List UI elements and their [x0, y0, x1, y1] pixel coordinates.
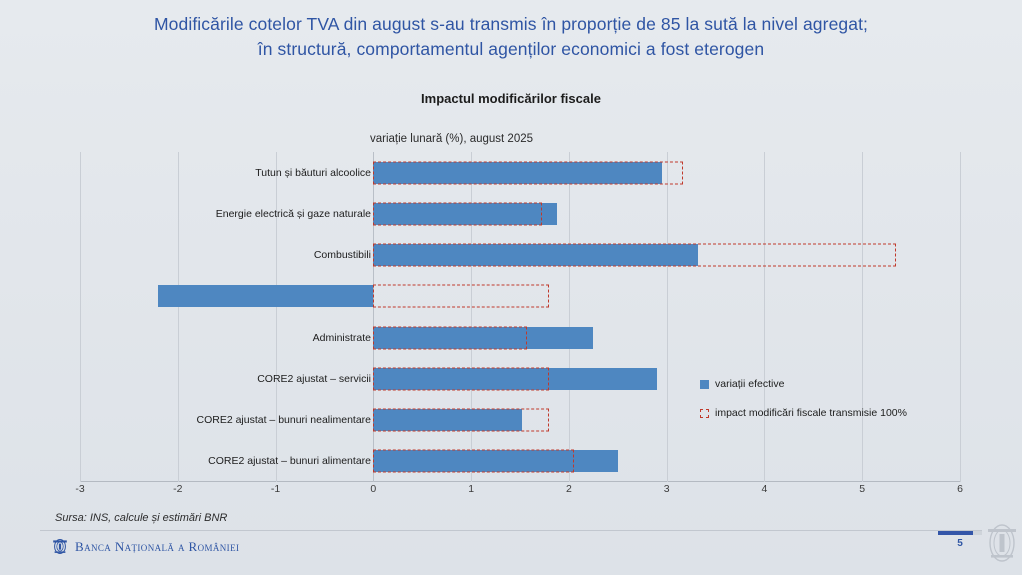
- bar-effective-3: [158, 285, 373, 307]
- outline-fiscal-5: [373, 367, 549, 390]
- outline-fiscal-2: [373, 244, 896, 267]
- category-label-6: CORE2 ajustat – bunuri nealimentare: [196, 414, 371, 426]
- legend-swatch-dashed-icon: [700, 409, 709, 418]
- source-note: Sursa: INS, calcule și estimări BNR: [55, 512, 227, 524]
- category-label-0: Tutun și băuturi alcoolice: [255, 167, 371, 179]
- legend-item-fiscal: impact modificări fiscale transmisie 100…: [700, 407, 907, 419]
- outline-fiscal-6: [373, 409, 549, 432]
- category-label-4: Administrate: [313, 332, 371, 344]
- slide-title-line-1: Modificările cotelor TVA din august s-au…: [60, 12, 962, 37]
- slide-progress-fill: [938, 531, 973, 535]
- brand-block: Banca Națională a României: [52, 538, 239, 555]
- slide-title-line-2: în structură, comportamentul agenților e…: [60, 37, 962, 62]
- chart-row: CORE2 ajustat – bunuri alimentare: [80, 441, 960, 482]
- bnr-watermark-icon: [985, 521, 1019, 565]
- x-tick-label-2: -1: [271, 483, 280, 495]
- x-tick-label-9: 6: [957, 483, 963, 495]
- chart-row: Combustibili: [80, 235, 960, 276]
- outline-fiscal-1: [373, 202, 541, 225]
- category-label-1: Energie electrică și gaze naturale: [216, 208, 371, 220]
- outline-fiscal-3: [373, 285, 549, 308]
- legend-label-effective: variații efective: [715, 378, 784, 390]
- footer-divider: [40, 530, 982, 531]
- category-label-5: CORE2 ajustat – servicii: [257, 373, 371, 385]
- x-tick-label-5: 2: [566, 483, 572, 495]
- chart-row: Tutun și băuturi alcoolice: [80, 152, 960, 193]
- chart-row: Energie electrică și gaze naturale: [80, 193, 960, 234]
- x-tick-label-4: 1: [468, 483, 474, 495]
- slide-title: Modificările cotelor TVA din august s-au…: [60, 12, 962, 62]
- slide-progress-bar: [938, 531, 982, 535]
- gridline-6: [960, 152, 961, 482]
- chart-row: Administrate: [80, 317, 960, 358]
- x-tick-label-1: -2: [173, 483, 182, 495]
- chart-row: LFO: [80, 276, 960, 317]
- brand-name: Banca Națională a României: [75, 539, 239, 555]
- chart-legend: variații efective impact modificări fisc…: [700, 378, 907, 436]
- outline-fiscal-4: [373, 326, 527, 349]
- outline-fiscal-0: [373, 161, 683, 184]
- bnr-emblem-icon: [52, 538, 68, 555]
- x-tick-label-6: 3: [664, 483, 670, 495]
- page-number: 5: [938, 538, 982, 549]
- outline-fiscal-7: [373, 450, 573, 473]
- x-tick-label-3: 0: [370, 483, 376, 495]
- legend-label-fiscal: impact modificări fiscale transmisie 100…: [715, 407, 907, 419]
- category-label-2: Combustibili: [314, 249, 371, 261]
- category-label-7: CORE2 ajustat – bunuri alimentare: [208, 455, 371, 467]
- x-tick-label-7: 4: [762, 483, 768, 495]
- chart-subtitle: variație lunară (%), august 2025: [370, 133, 533, 145]
- x-axis-tick-labels: -3-2-10123456: [80, 483, 960, 501]
- x-tick-label-8: 5: [859, 483, 865, 495]
- chart-title: Impactul modificărilor fiscale: [0, 91, 1022, 106]
- legend-swatch-solid-icon: [700, 380, 709, 389]
- x-tick-label-0: -3: [75, 483, 84, 495]
- legend-item-effective: variații efective: [700, 378, 907, 390]
